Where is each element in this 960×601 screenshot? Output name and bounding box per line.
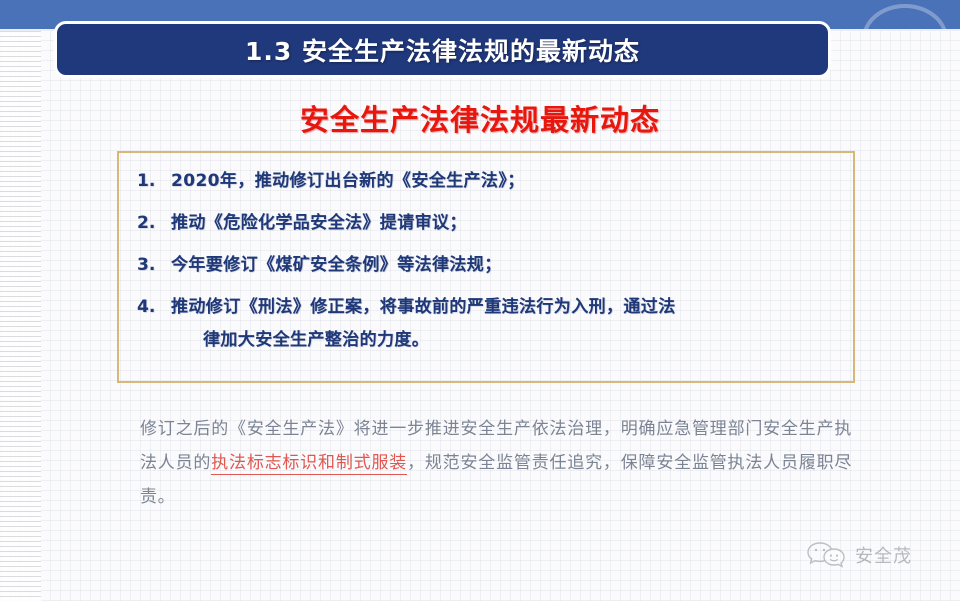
- wechat-bubbles-icon: [806, 540, 848, 570]
- page-title: 安全生产法律法规最新动态: [0, 97, 960, 139]
- list-item-line-1: 推动修订《刑法》修正案，将事故前的严重违法行为入刑，通过法: [171, 297, 676, 317]
- list-item: 2. 推动《危险化学品安全法》提请审议；: [137, 207, 843, 240]
- section-title-bar: 1.3 安全生产法律法规的最新动态: [54, 21, 831, 78]
- arc-decoration-icon: [862, 4, 948, 31]
- list-item: 1. 2020年，推动修订出台新的《安全生产法》；: [137, 165, 843, 198]
- list-item: 3. 今年要修订《煤矿安全条例》等法律法规；: [137, 249, 843, 282]
- slide-canvas: 1.3 安全生产法律法规的最新动态 安全生产法律法规最新动态 1. 2020年，…: [0, 0, 960, 601]
- paragraph-highlight: 执法标志标识和制式服装: [211, 453, 407, 475]
- list-item-line-2: 律加大安全生产整治的力度。: [171, 324, 843, 357]
- highlight-box: 1. 2020年，推动修订出台新的《安全生产法》； 2. 推动《危险化学品安全法…: [117, 151, 855, 383]
- list-item-number: 3.: [137, 249, 171, 282]
- numbered-list: 1. 2020年，推动修订出台新的《安全生产法》； 2. 推动《危险化学品安全法…: [137, 165, 843, 366]
- section-title-text: 1.3 安全生产法律法规的最新动态: [245, 32, 640, 68]
- list-item-number: 4.: [137, 291, 171, 324]
- list-item-number: 1.: [137, 165, 171, 198]
- list-item-label: 推动《危险化学品安全法》提请审议；: [171, 207, 843, 240]
- list-item-label: 推动修订《刑法》修正案，将事故前的严重违法行为入刑，通过法 律加大安全生产整治的…: [171, 291, 843, 357]
- list-item-number: 2.: [137, 207, 171, 240]
- list-item: 4. 推动修订《刑法》修正案，将事故前的严重违法行为入刑，通过法 律加大安全生产…: [137, 291, 843, 357]
- list-item-label: 今年要修订《煤矿安全条例》等法律法规；: [171, 249, 843, 282]
- watermark: 安全茂: [806, 540, 912, 570]
- body-paragraph: 修订之后的《安全生产法》将进一步推进安全生产依法治理，明确应急管理部门安全生产执…: [140, 412, 852, 514]
- list-item-label: 2020年，推动修订出台新的《安全生产法》；: [171, 165, 843, 198]
- watermark-label: 安全茂: [855, 542, 912, 568]
